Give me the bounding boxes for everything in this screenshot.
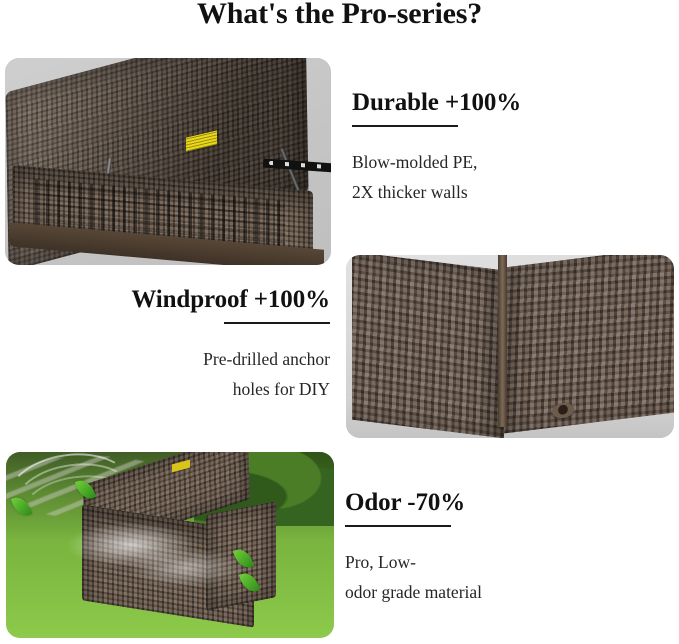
feature-body-line-2: odor grade material xyxy=(345,582,482,602)
heading-underline-odor xyxy=(345,525,451,527)
feature-block-windproof: Windproof +100% Pre-drilled anchor holes… xyxy=(60,285,330,404)
box-panel-left xyxy=(352,255,504,438)
image-open-deck-box: Brown wicker-texture resin deck box with… xyxy=(5,58,331,265)
feature-block-durable: Durable +100% Blow-molded PE, 2X thicker… xyxy=(352,88,662,207)
feature-body-line-1: Pre-drilled anchor xyxy=(203,349,330,369)
feature-body-line-1: Blow-molded PE, xyxy=(352,152,477,172)
feature-body-durable: Blow-molded PE, 2X thicker walls xyxy=(352,147,662,207)
feature-heading-odor: Odor -70% xyxy=(345,488,665,518)
heading-underline-windproof xyxy=(224,322,330,324)
feature-heading-durable: Durable +100% xyxy=(352,88,662,118)
feature-body-line-1: Pro, Low- xyxy=(345,552,416,572)
feature-body-odor: Pro, Low- odor grade material xyxy=(345,547,665,607)
box-corner-edge xyxy=(498,255,507,427)
heading-underline-durable xyxy=(352,125,458,127)
image-deck-box-on-lawn: Deck box with open lid on a green lawn w… xyxy=(6,452,334,638)
feature-body-windproof: Pre-drilled anchor holes for DIY xyxy=(60,344,330,404)
feature-body-line-2: holes for DIY xyxy=(233,379,330,399)
air-mist-2 xyxy=(126,548,246,588)
feature-block-odor: Odor -70% Pro, Low- odor grade material xyxy=(345,488,665,607)
image-corner-closeup: Close-up of the deck box corner showing … xyxy=(346,255,674,438)
feature-body-line-2: 2X thicker walls xyxy=(352,182,468,202)
box-panel-right xyxy=(504,255,674,433)
page-title: What's the Pro-series? xyxy=(0,0,679,32)
feature-heading-windproof: Windproof +100% xyxy=(60,285,330,315)
